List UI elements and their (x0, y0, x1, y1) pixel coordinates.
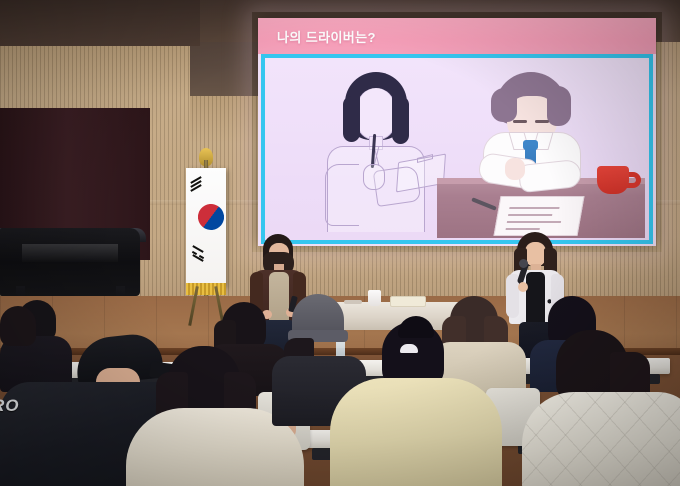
illustration-woman-with-clipboard (313, 72, 445, 232)
flag-fringe (186, 283, 226, 295)
slide-body (261, 54, 653, 244)
presenter-right-hand (518, 282, 528, 292)
man-eye-left (513, 120, 527, 123)
slide-header-bar: 나의 드라이버는? (258, 18, 656, 54)
woman-hand (363, 164, 385, 190)
stage-table-box (390, 296, 426, 307)
attendee-head (0, 306, 36, 346)
lecture-hall-photo: 나의 드라이버는? (0, 0, 680, 486)
presenter-right-inner-top (526, 272, 545, 324)
man-eye-right (535, 120, 549, 123)
hair-clip (400, 344, 418, 353)
man-hair-side-left (491, 88, 517, 122)
woman-hair-left (343, 96, 360, 142)
piano-reflection (22, 244, 118, 262)
man-hand (505, 158, 525, 180)
illustration-man-at-desk (455, 70, 625, 240)
microphone-head (519, 259, 528, 268)
jacket-logo-text: RO (0, 396, 20, 416)
slide-illustration (265, 58, 649, 240)
attendee-puffer-jacket (522, 392, 680, 486)
man-hair-side-right (547, 86, 571, 126)
presenter-left-top (269, 272, 289, 324)
woman-hair-right (392, 96, 409, 144)
upper-wall-band-left (0, 0, 200, 46)
attendee-sweater (330, 378, 502, 486)
desk-paper (493, 196, 584, 236)
stage-table-cup (368, 290, 381, 306)
stage-table-item (344, 300, 362, 304)
woman-arm-left (325, 164, 359, 226)
coffee-mug (597, 166, 629, 194)
projected-slide: 나의 드라이버는? (258, 18, 656, 246)
woman-face (357, 88, 395, 140)
slide-title: 나의 드라이버는? (277, 27, 376, 46)
